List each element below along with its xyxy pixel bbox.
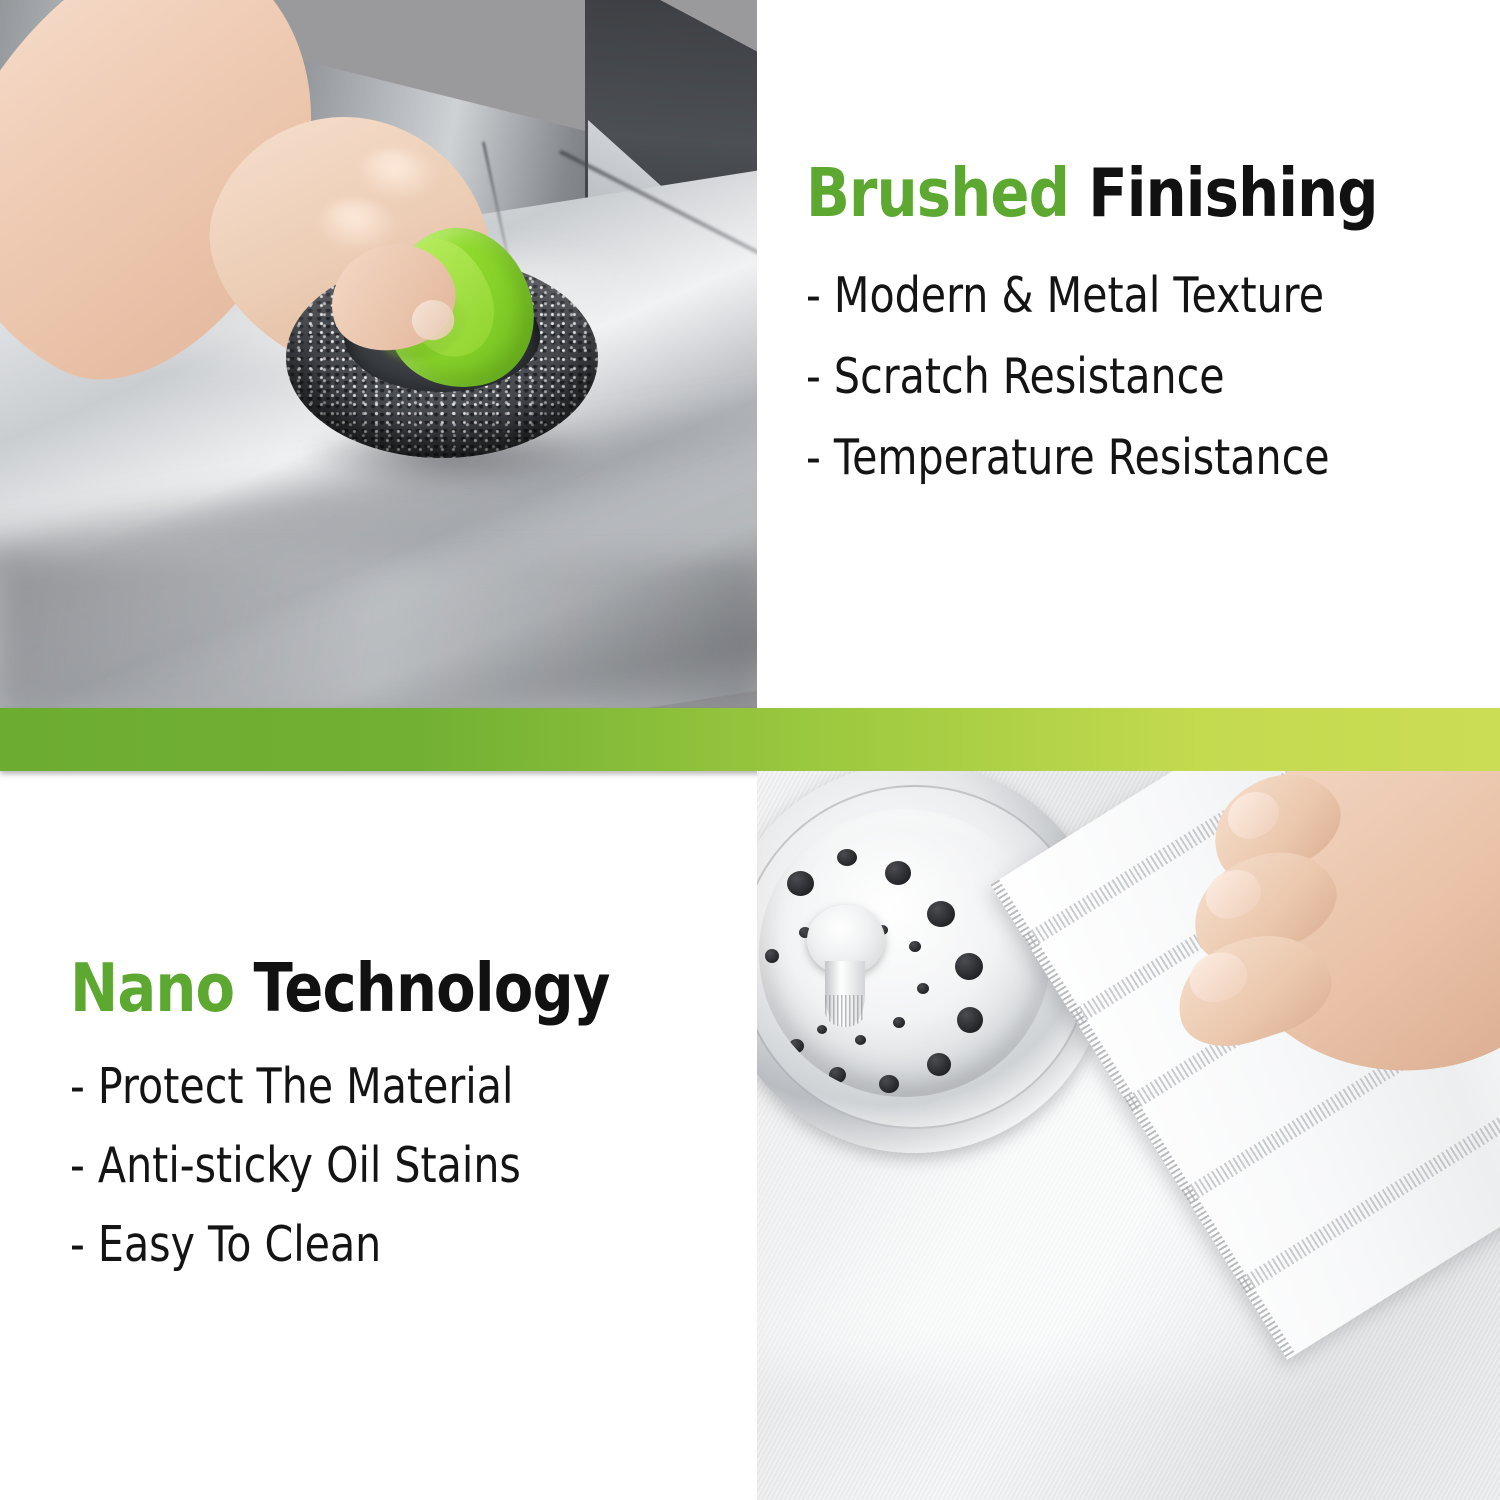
strainer-hole [893, 1017, 905, 1028]
feature-list-item: - Scratch Resistance [806, 352, 1377, 401]
headline-nano-technology: Nano Technology [70, 955, 638, 1022]
strainer-hole [879, 1075, 899, 1093]
feature-list-item: - Easy To Clean [70, 1220, 624, 1269]
strainer-hole [787, 871, 814, 896]
feature-list-item: - Protect The Material [70, 1062, 624, 1111]
feature-list-item: - Temperature Resistance [806, 433, 1377, 482]
strainer-hole [909, 941, 921, 952]
strainer-hole [927, 1053, 951, 1076]
strainer-hole [829, 1067, 846, 1083]
strainer-hole [885, 861, 911, 885]
sink-lower-streak [0, 560, 757, 708]
strainer-hole [765, 949, 779, 963]
feature-list-item: - Anti-sticky Oil Stains [70, 1141, 624, 1190]
strainer-hole [957, 1007, 983, 1033]
product-infographic: Brushed Finishing - Modern & Metal Textu… [0, 0, 1500, 1500]
headline-brushed-finishing: Brushed Finishing [806, 160, 1391, 227]
feature-list-nano-technology: - Protect The Material - Anti-sticky Oil… [70, 1062, 730, 1269]
feature-block-nano-technology: Nano Technology - Protect The Material -… [70, 955, 730, 1299]
headline-dark-word: Technology [253, 949, 609, 1027]
strainer-hole [789, 1039, 804, 1053]
green-gradient-divider [0, 708, 1500, 771]
headline-accent-word: Nano [70, 949, 234, 1027]
photo-sink-scrubbing [0, 0, 757, 708]
strainer-stem-ridges [825, 995, 865, 1027]
photo-drain-wiping [757, 771, 1500, 1500]
strainer-hole [955, 953, 983, 980]
feature-list-item: - Modern & Metal Texture [806, 271, 1377, 320]
feature-list-brushed-finishing: - Modern & Metal Texture - Scratch Resis… [806, 271, 1486, 482]
feature-block-brushed-finishing: Brushed Finishing - Modern & Metal Textu… [806, 160, 1486, 482]
strainer-hole [927, 901, 955, 927]
headline-accent-word: Brushed [806, 154, 1069, 232]
drain-strainer-basket [759, 809, 1051, 1097]
headline-dark-word: Finishing [1088, 154, 1377, 232]
strainer-hole [855, 1035, 866, 1045]
strainer-hole [817, 1025, 827, 1034]
strainer-hole [837, 849, 857, 866]
strainer-hole [917, 983, 929, 994]
